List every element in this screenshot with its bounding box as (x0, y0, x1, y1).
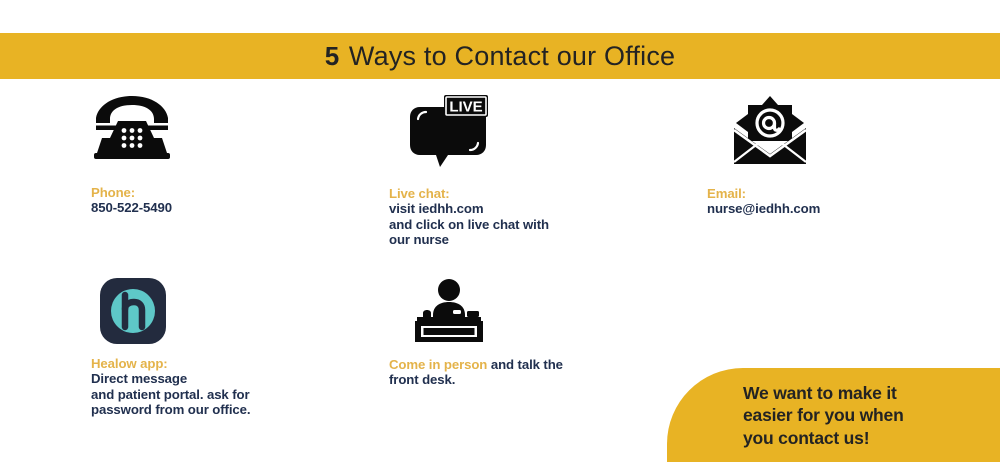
healow-line-1: Direct message (91, 371, 250, 386)
live-chat-bubble-icon: LIVE (408, 95, 488, 167)
in-person-label: Come in person (389, 357, 487, 372)
callout-line-3: you contact us! (743, 427, 904, 449)
healow-app-icon (100, 278, 166, 344)
in-person-text-block: Come in person and talk the front desk. (389, 357, 563, 388)
callout-line-2: easier for you when (743, 404, 904, 426)
live-chat-label: Live chat: (389, 186, 549, 201)
page-title-number: 5 (325, 41, 339, 71)
in-person-line-2: front desk. (389, 372, 563, 387)
live-chat-line-1: visit iedhh.com (389, 201, 549, 216)
in-person-line-1: and talk the (487, 357, 563, 372)
live-badge-text: LIVE (449, 99, 482, 116)
healow-line-3: password from our office. (91, 402, 250, 417)
phone-label: Phone: (91, 185, 172, 200)
phone-number: 850-522-5490 (91, 200, 172, 215)
callout-line-1: We want to make it (743, 382, 904, 404)
live-chat-text-block: Live chat: visit iedhh.com and click on … (389, 186, 549, 248)
reception-desk-icon (413, 277, 485, 343)
page-title: 5 Ways to Contact our Office (325, 43, 676, 70)
callout-text: We want to make it easier for you when y… (743, 382, 904, 449)
email-label: Email: (707, 186, 820, 201)
page-title-text: Ways to Contact our Office (341, 41, 675, 71)
desk-phone-icon (92, 94, 172, 162)
live-chat-line-3: our nurse (389, 232, 549, 247)
header-banner: 5 Ways to Contact our Office (0, 33, 1000, 79)
email-text-block: Email: nurse@iedhh.com (707, 186, 820, 217)
callout-panel: We want to make it easier for you when y… (667, 368, 1000, 462)
healow-line-2: and patient portal. ask for (91, 387, 250, 402)
healow-text-block: Healow app: Direct message and patient p… (91, 356, 250, 418)
healow-label: Healow app: (91, 356, 250, 371)
envelope-at-icon (734, 96, 806, 166)
email-address: nurse@iedhh.com (707, 201, 820, 216)
phone-text-block: Phone: 850-522-5490 (91, 185, 172, 216)
live-chat-line-2: and click on live chat with (389, 217, 549, 232)
